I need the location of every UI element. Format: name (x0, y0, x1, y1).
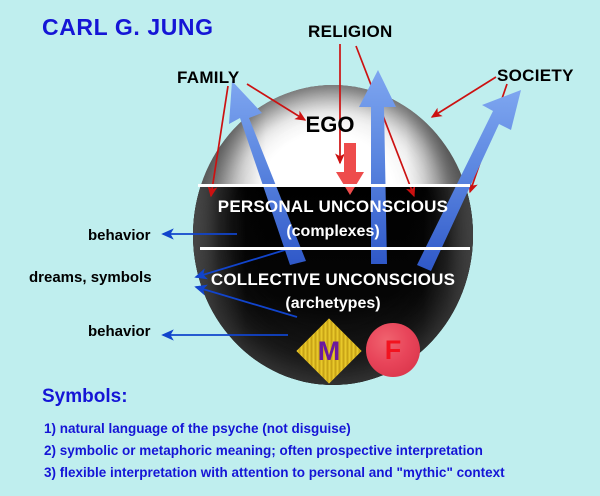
masculine-archetype-symbol: M (300, 322, 358, 380)
conscious-unconscious-divider (198, 184, 470, 187)
label-dreams-symbols: dreams, symbols (29, 269, 152, 286)
page-title: CARL G. JUNG (42, 14, 214, 41)
label-behavior-top: behavior (88, 227, 151, 244)
label-religion: RELIGION (308, 22, 393, 42)
masculine-letter: M (300, 322, 358, 380)
personal-unconscious-sublabel: (complexes) (183, 223, 483, 241)
list-item: 3) flexible interpretation with attentio… (44, 462, 584, 484)
personal-collective-divider (200, 247, 470, 250)
collective-unconscious-sublabel: (archetypes) (183, 295, 483, 313)
label-behavior-bottom: behavior (88, 323, 151, 340)
symbols-list: 1) natural language of the psyche (not d… (44, 418, 584, 484)
feminine-archetype-symbol: F (366, 323, 420, 377)
label-family: FAMILY (177, 68, 240, 88)
label-society: SOCIETY (497, 66, 574, 86)
symbols-heading: Symbols: (42, 386, 128, 408)
feminine-letter: F (366, 323, 420, 377)
ego-label: EGO (0, 112, 600, 138)
list-item: 1) natural language of the psyche (not d… (44, 418, 584, 440)
personal-unconscious-label: PERSONAL UNCONSCIOUS (183, 197, 483, 217)
ego-label-text: EGO (306, 112, 355, 137)
list-item: 2) symbolic or metaphoric meaning; often… (44, 440, 584, 462)
slide-canvas: CARL G. JUNG (0, 0, 600, 496)
collective-unconscious-label: COLLECTIVE UNCONSCIOUS (178, 270, 488, 290)
